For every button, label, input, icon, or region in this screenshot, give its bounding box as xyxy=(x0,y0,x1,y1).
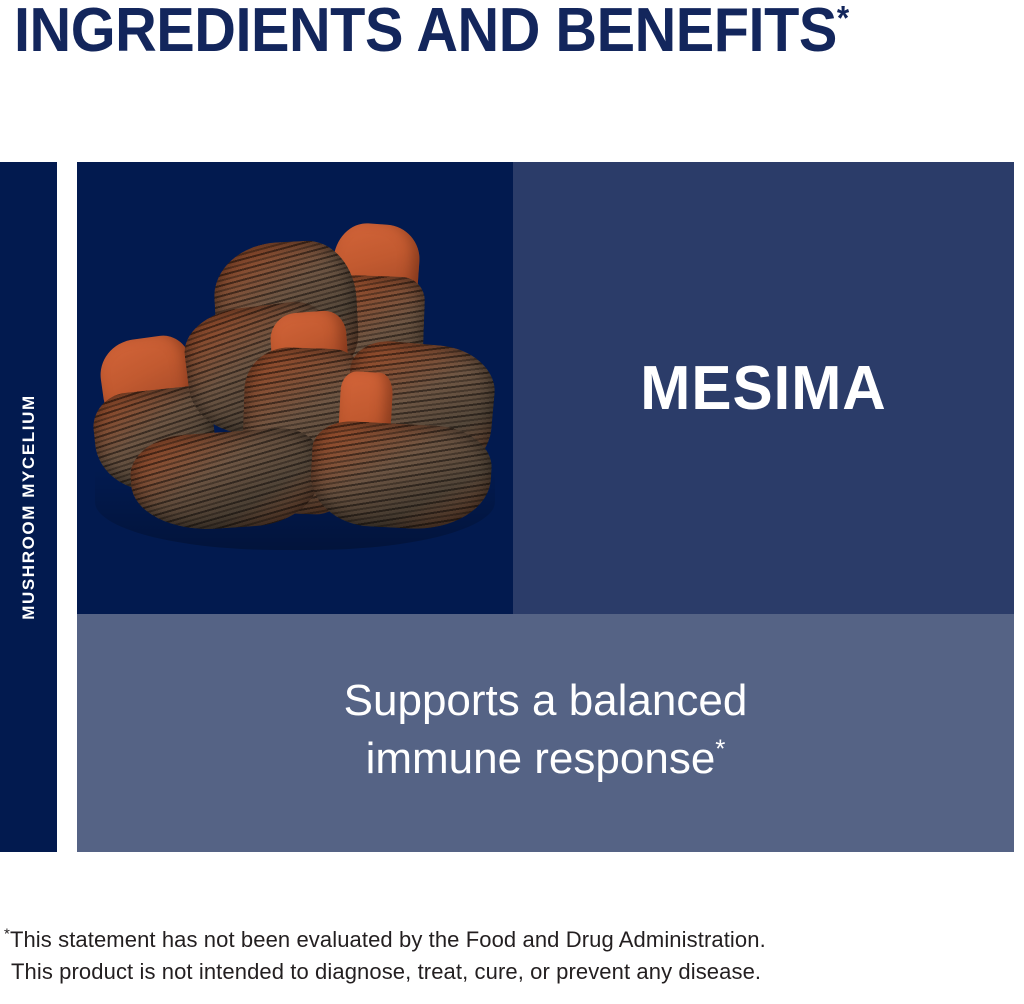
benefit-footnote-marker: * xyxy=(715,733,725,763)
ingredient-image xyxy=(77,162,513,614)
ingredient-benefit-block: Supports a balanced immune response* xyxy=(77,614,1014,852)
ingredient-name: MESIMA xyxy=(521,358,1007,420)
mesima-mushroom-illustration xyxy=(95,220,495,550)
page-title-footnote-marker: * xyxy=(837,0,849,37)
ingredient-card: MESIMA Supports a balanced immune respon… xyxy=(77,162,1014,852)
category-rail: MUSHROOM MYCELIUM xyxy=(0,162,57,852)
ingredient-card-top: MESIMA xyxy=(77,162,1014,614)
ingredient-benefit-text: Supports a balanced immune response* xyxy=(77,672,1014,788)
page-title-text: INGREDIENTS AND BENEFITS xyxy=(14,0,837,65)
benefit-line-2: immune response xyxy=(366,734,716,783)
benefit-line-1: Supports a balanced xyxy=(344,676,748,725)
disclaimer-line-2: This product is not intended to diagnose… xyxy=(4,956,904,988)
category-rail-label: MUSHROOM MYCELIUM xyxy=(19,394,39,620)
disclaimer-line-1: This statement has not been evaluated by… xyxy=(10,927,766,952)
page-title: INGREDIENTS AND BENEFITS* xyxy=(14,0,944,64)
ingredients-and-benefits-panel: INGREDIENTS AND BENEFITS* MUSHROOM MYCEL… xyxy=(0,0,1024,1004)
fda-disclaimer: *This statement has not been evaluated b… xyxy=(4,924,904,988)
ingredient-name-block: MESIMA xyxy=(513,162,1014,614)
